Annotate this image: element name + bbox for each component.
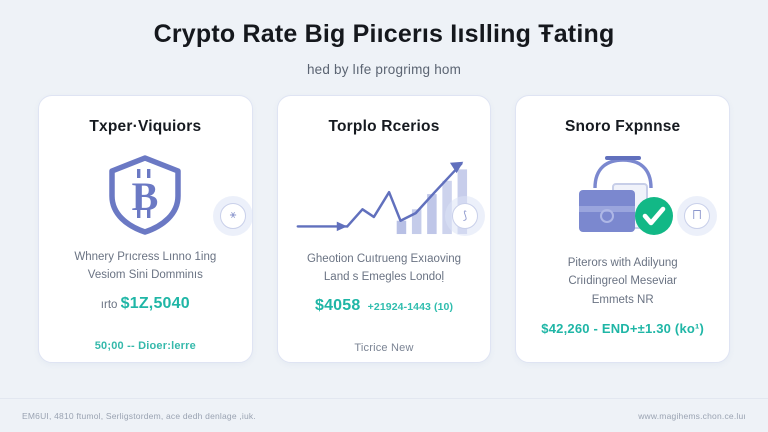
card-price-row: ırto $1Z,5040 <box>74 291 216 317</box>
card-price: $1Z,5040 <box>121 295 190 312</box>
trend-arrow-start <box>336 221 346 231</box>
card-title: Snoro Fxpnnse <box>565 118 680 136</box>
card-body-line: Whnery Prıcress Lınno 1ing <box>74 248 216 267</box>
growth-chart-icon <box>294 152 475 240</box>
footer-address: EM6UI, 4810 ftumol, Serligstordem, ace d… <box>22 411 256 421</box>
connector-badge-1[interactable]: ⚹ <box>220 203 246 229</box>
connector-badge-3[interactable]: ⨅ <box>684 203 710 229</box>
wallet-check-icon <box>561 154 685 242</box>
card-title: Txper·Viquiors <box>89 118 201 136</box>
card-body-line: Emmets NR <box>568 291 678 310</box>
card-body-line: Gheotion Cuıtrueng Exıaoving <box>307 250 461 269</box>
page-title: Crypto Rate Big Piıcerıs Iıslling Ŧating <box>0 20 768 49</box>
card-price-change: +21924-1443 (10) <box>368 301 453 313</box>
page-header: Crypto Rate Big Piıcerıs Iıslling Ŧating… <box>0 0 768 77</box>
card-body-line: Piterors with Adilyung <box>568 254 678 273</box>
page-footer: EM6UI, 4810 ftumol, Serligstordem, ace d… <box>0 398 768 432</box>
card-body-line: Criıdingreol Meseviar <box>568 272 678 291</box>
price-prefix: ırto <box>101 299 118 311</box>
card-list: Txper·Viquiors B Whnery Prıcress Lınno 1… <box>38 95 730 363</box>
card-body: Piterors with Adilyung Criıdingreol Mese… <box>568 254 678 310</box>
card-secure-wallet[interactable]: Snoro Fxpnnse <box>515 95 730 363</box>
connector-badge-glyph: ⨅ <box>693 209 702 222</box>
card-price: $4058 <box>315 297 361 314</box>
card-crypto-holdings[interactable]: Txper·Viquiors B Whnery Prıcress Lınno 1… <box>38 95 253 363</box>
connector-badge-2[interactable]: ⟆ <box>452 203 478 229</box>
svg-text:B: B <box>132 174 159 219</box>
card-price: $42,260 - END+±1.30 (ko¹) <box>541 321 704 336</box>
card-body: Gheotion Cuıtrueng Exıaoving Land s Emeg… <box>307 250 461 319</box>
card-market-trend[interactable]: Torplo Rcerios <box>277 95 492 363</box>
bitcoin-shield-icon: B <box>102 152 188 238</box>
crypto-rate-infographic: Crypto Rate Big Piıcerıs Iıslling Ŧating… <box>0 0 768 432</box>
connector-badge-glyph: ⟆ <box>463 209 467 222</box>
card-footer-note: Ticrice New <box>354 342 413 354</box>
card-body: Whnery Prıcress Lınno 1ing Vesiom Sini D… <box>74 248 216 317</box>
card-price-row: $42,260 - END+±1.30 (ko¹) <box>541 321 704 336</box>
card-title: Torplo Rcerios <box>328 118 439 136</box>
footer-website[interactable]: www.magihems.chon.ce.luı <box>638 411 746 421</box>
card-body-line: Vesiom Sini Domminıs <box>74 266 216 285</box>
card-visual <box>532 152 713 244</box>
card-visual <box>294 152 475 240</box>
wallet-top-bar <box>605 156 641 160</box>
chart-trend-line <box>297 163 461 226</box>
cards-region: Txper·Viquiors B Whnery Prıcress Lınno 1… <box>0 77 768 398</box>
card-footer-note: 50;00 -- Dioer:lerre <box>95 340 196 352</box>
card-visual: B <box>55 152 236 238</box>
card-price-row: $4058 +21924-1443 (10) <box>307 293 461 319</box>
connector-badge-glyph: ⚹ <box>230 209 237 222</box>
page-subtitle: hed by lıfe progrimg hom <box>0 62 768 77</box>
card-body-line: Land s Emegles Londoḷ <box>307 268 461 287</box>
